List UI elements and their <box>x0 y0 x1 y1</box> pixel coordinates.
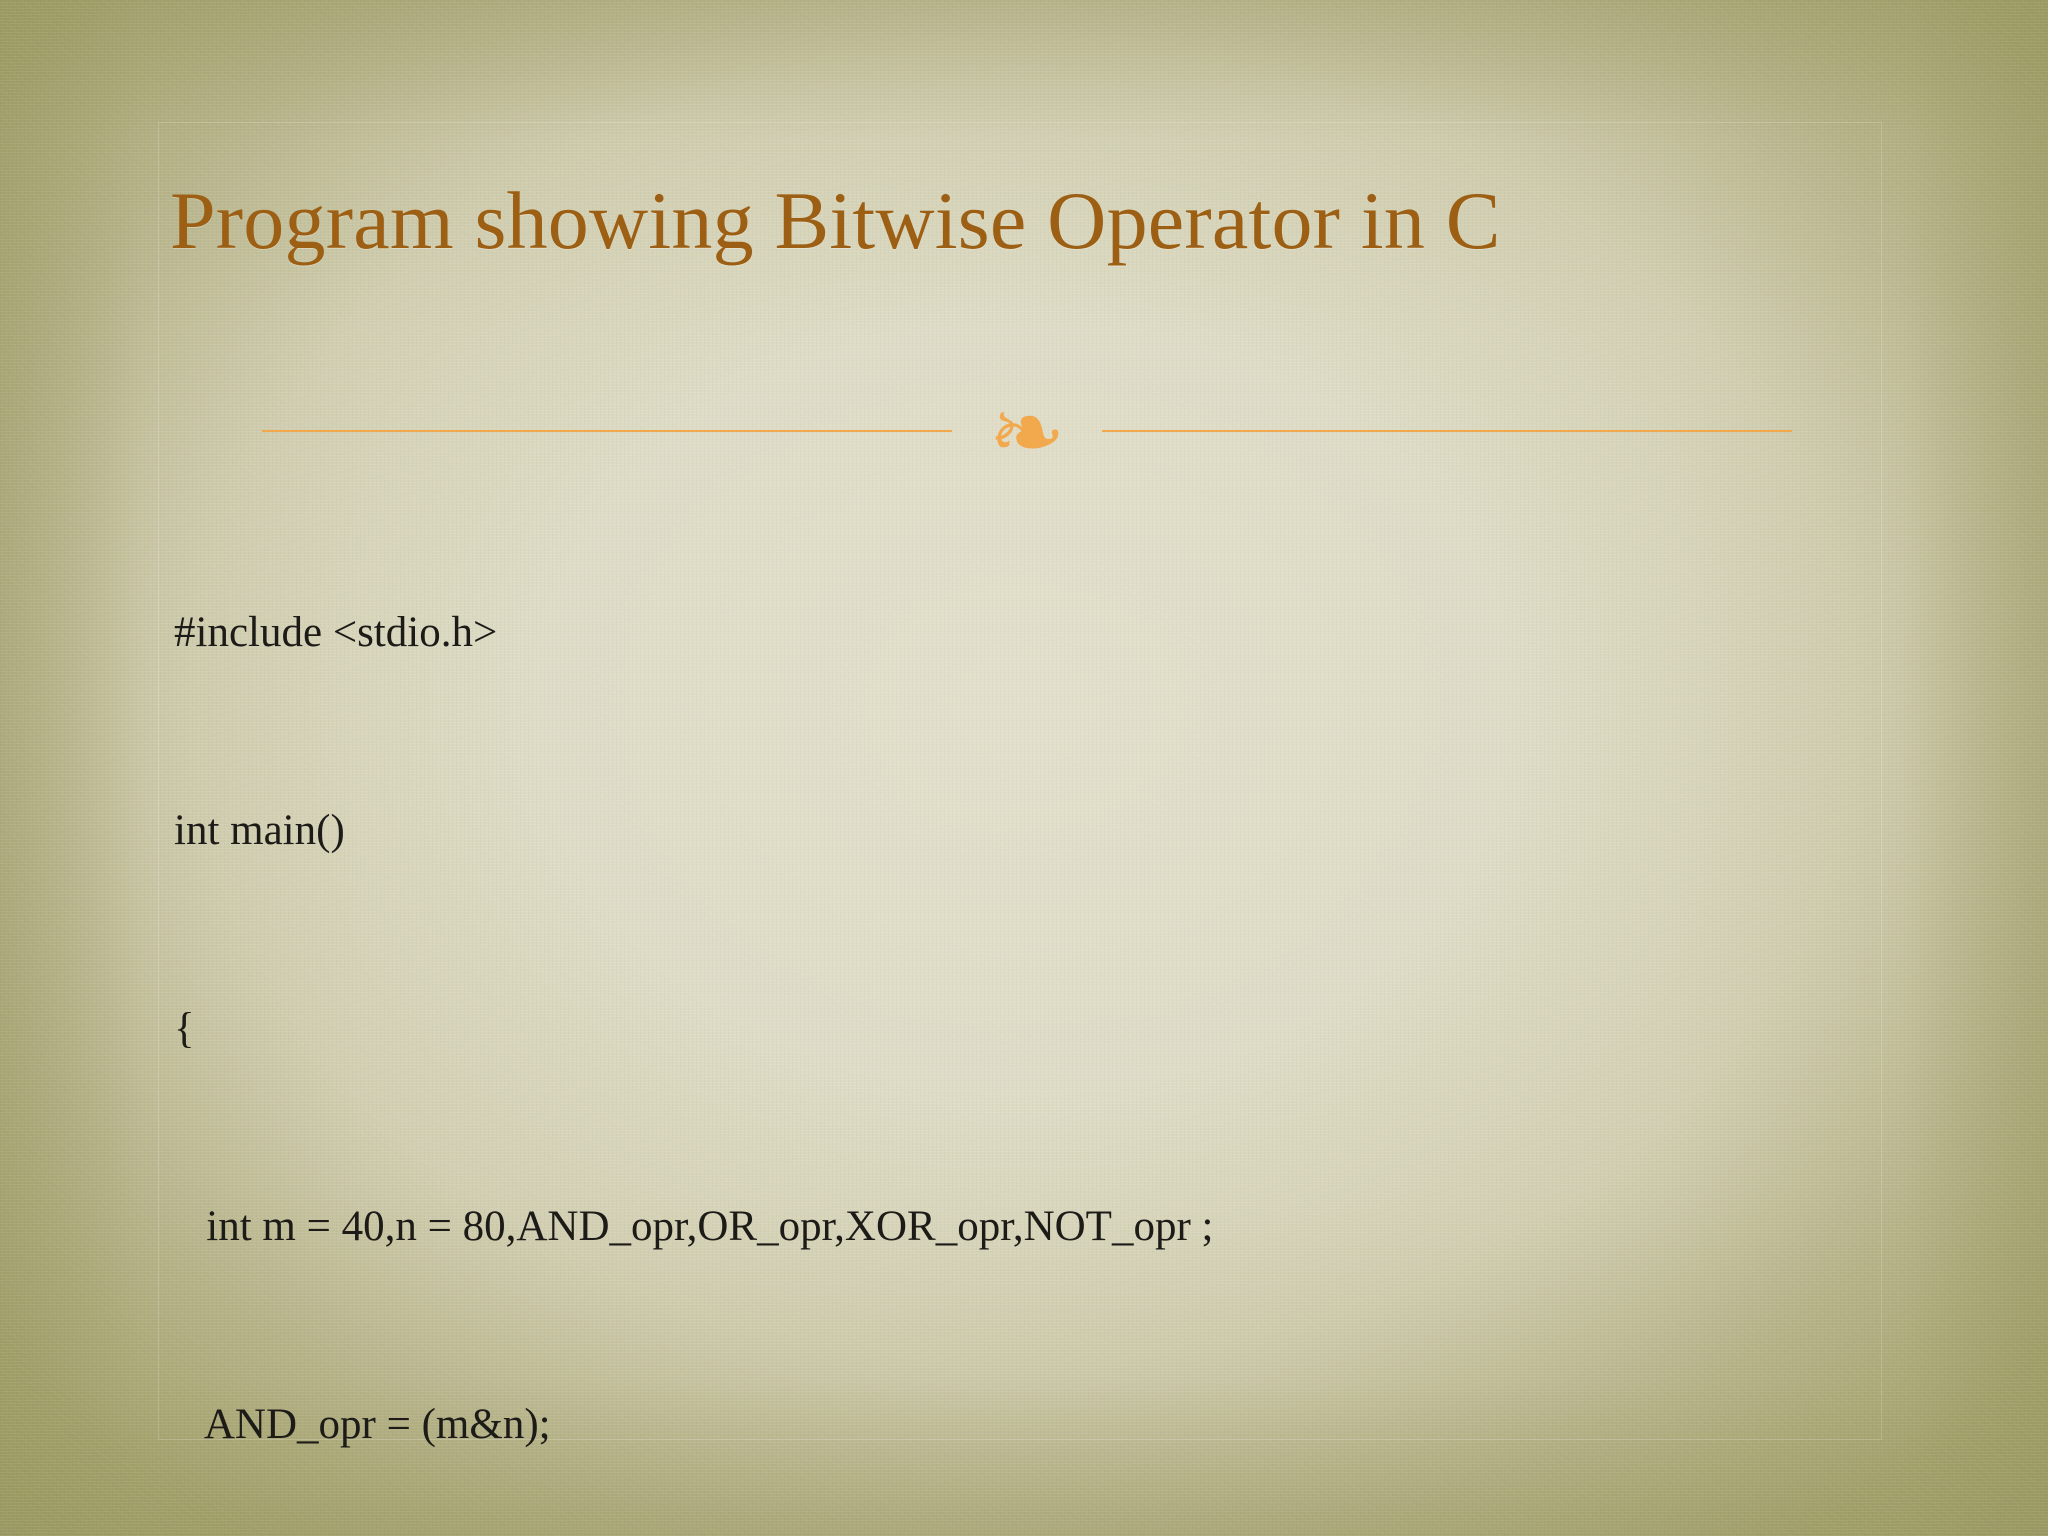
code-line: int main() <box>174 798 1954 864</box>
slide-title: Program showing Bitwise Operator in C <box>170 178 1890 265</box>
code-line: { <box>174 996 1954 1062</box>
floral-heart-ornament-icon: ❧ <box>988 387 1065 479</box>
presentation-slide: Program showing Bitwise Operator in C ❧ … <box>0 0 2048 1536</box>
code-line: int m = 40,n = 80,AND_opr,OR_opr,XOR_opr… <box>174 1194 1954 1260</box>
divider-rule-left <box>262 430 952 432</box>
code-block: #include <stdio.h> int main() { int m = … <box>174 468 1954 1536</box>
code-line: AND_opr = (m&n); <box>174 1392 1954 1458</box>
divider-rule-right <box>1102 430 1792 432</box>
title-divider: ❧ <box>262 388 1792 478</box>
code-line: #include <stdio.h> <box>174 600 1954 666</box>
